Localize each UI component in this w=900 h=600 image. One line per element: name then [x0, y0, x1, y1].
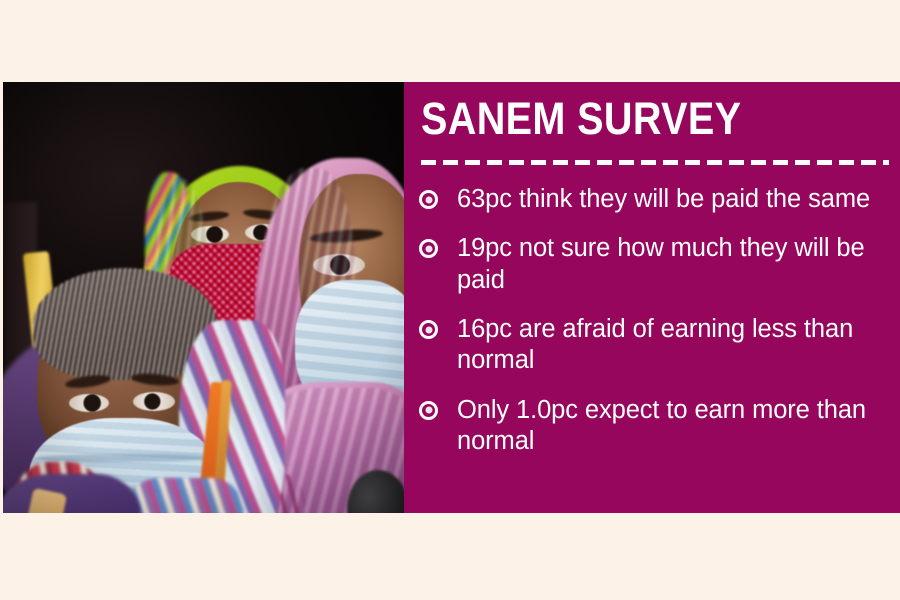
foreground-patterned-fabric — [123, 478, 243, 513]
list-item-label: 16pc are afraid of earning less than nor… — [457, 314, 892, 377]
foreground-purple-fabric — [3, 474, 141, 513]
survey-findings-list: 63pc think they will be paid the same 19… — [419, 184, 892, 476]
survey-photo — [3, 82, 404, 513]
photo-stage — [3, 82, 404, 513]
list-item: 63pc think they will be paid the same — [419, 184, 892, 215]
bullseye-icon — [419, 190, 438, 209]
bullseye-icon — [419, 401, 438, 420]
bullseye-icon — [419, 320, 438, 339]
list-item: Only 1.0pc expect to earn more than norm… — [419, 395, 892, 458]
list-item: 19pc not sure how much they will be paid — [419, 233, 892, 296]
survey-panel: SANEM SURVEY 63pc think they will be pai… — [404, 82, 900, 513]
left-woman-eye-right — [133, 392, 175, 411]
left-woman-eye-left — [69, 394, 109, 412]
list-item-label: 63pc think they will be paid the same — [457, 184, 870, 215]
bullseye-icon — [419, 239, 438, 258]
title-divider — [421, 160, 889, 165]
list-item-label: Only 1.0pc expect to earn more than norm… — [457, 395, 892, 458]
page-title: SANEM SURVEY — [421, 96, 741, 141]
infographic-root: SANEM SURVEY 63pc think they will be pai… — [0, 0, 900, 600]
list-item-label: 19pc not sure how much they will be paid — [457, 233, 892, 296]
list-item: 16pc are afraid of earning less than nor… — [419, 314, 892, 377]
left-woman-mask-pleat-upper — [37, 454, 209, 462]
